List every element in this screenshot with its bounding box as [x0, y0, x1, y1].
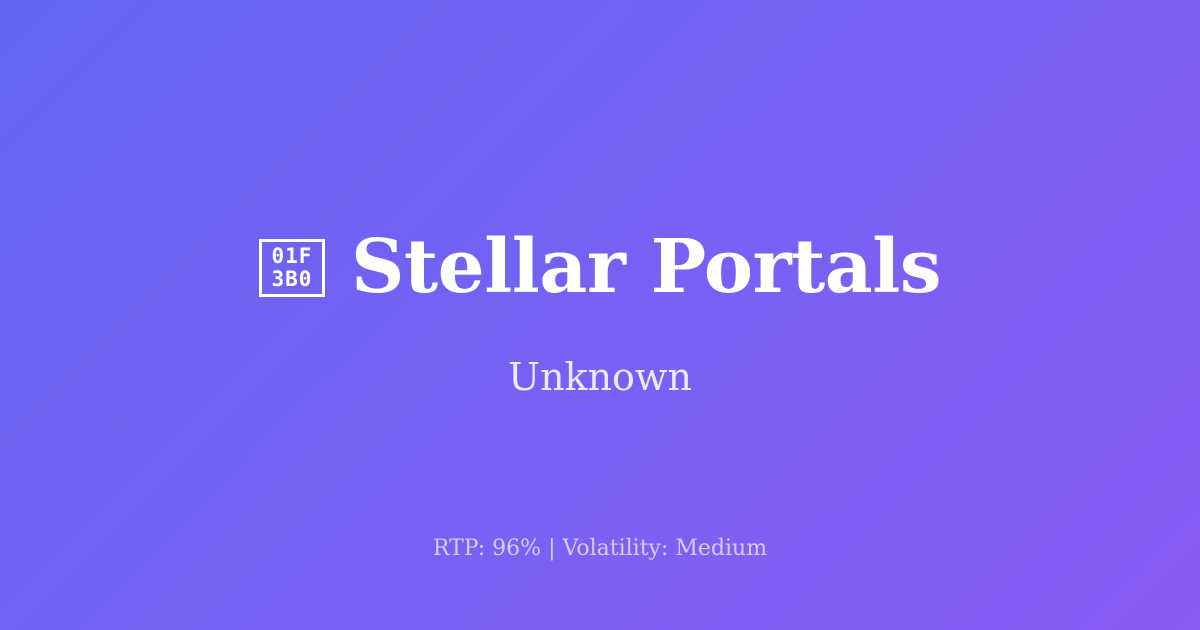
slot-machine-icon: 01F 3B0: [259, 239, 325, 297]
title-row: 01F 3B0 Stellar Portals: [0, 229, 1200, 307]
slot-machine-icon-codepoint-lower: 3B0: [272, 268, 313, 292]
og-card: 01F 3B0 Stellar Portals Unknown RTP: 96%…: [0, 0, 1200, 630]
game-stats-footer: RTP: 96% | Volatility: Medium: [0, 536, 1200, 562]
subtitle: Unknown: [508, 355, 692, 401]
page-title: Stellar Portals: [351, 229, 941, 307]
slot-machine-icon-codepoint-upper: 01F: [272, 245, 313, 269]
